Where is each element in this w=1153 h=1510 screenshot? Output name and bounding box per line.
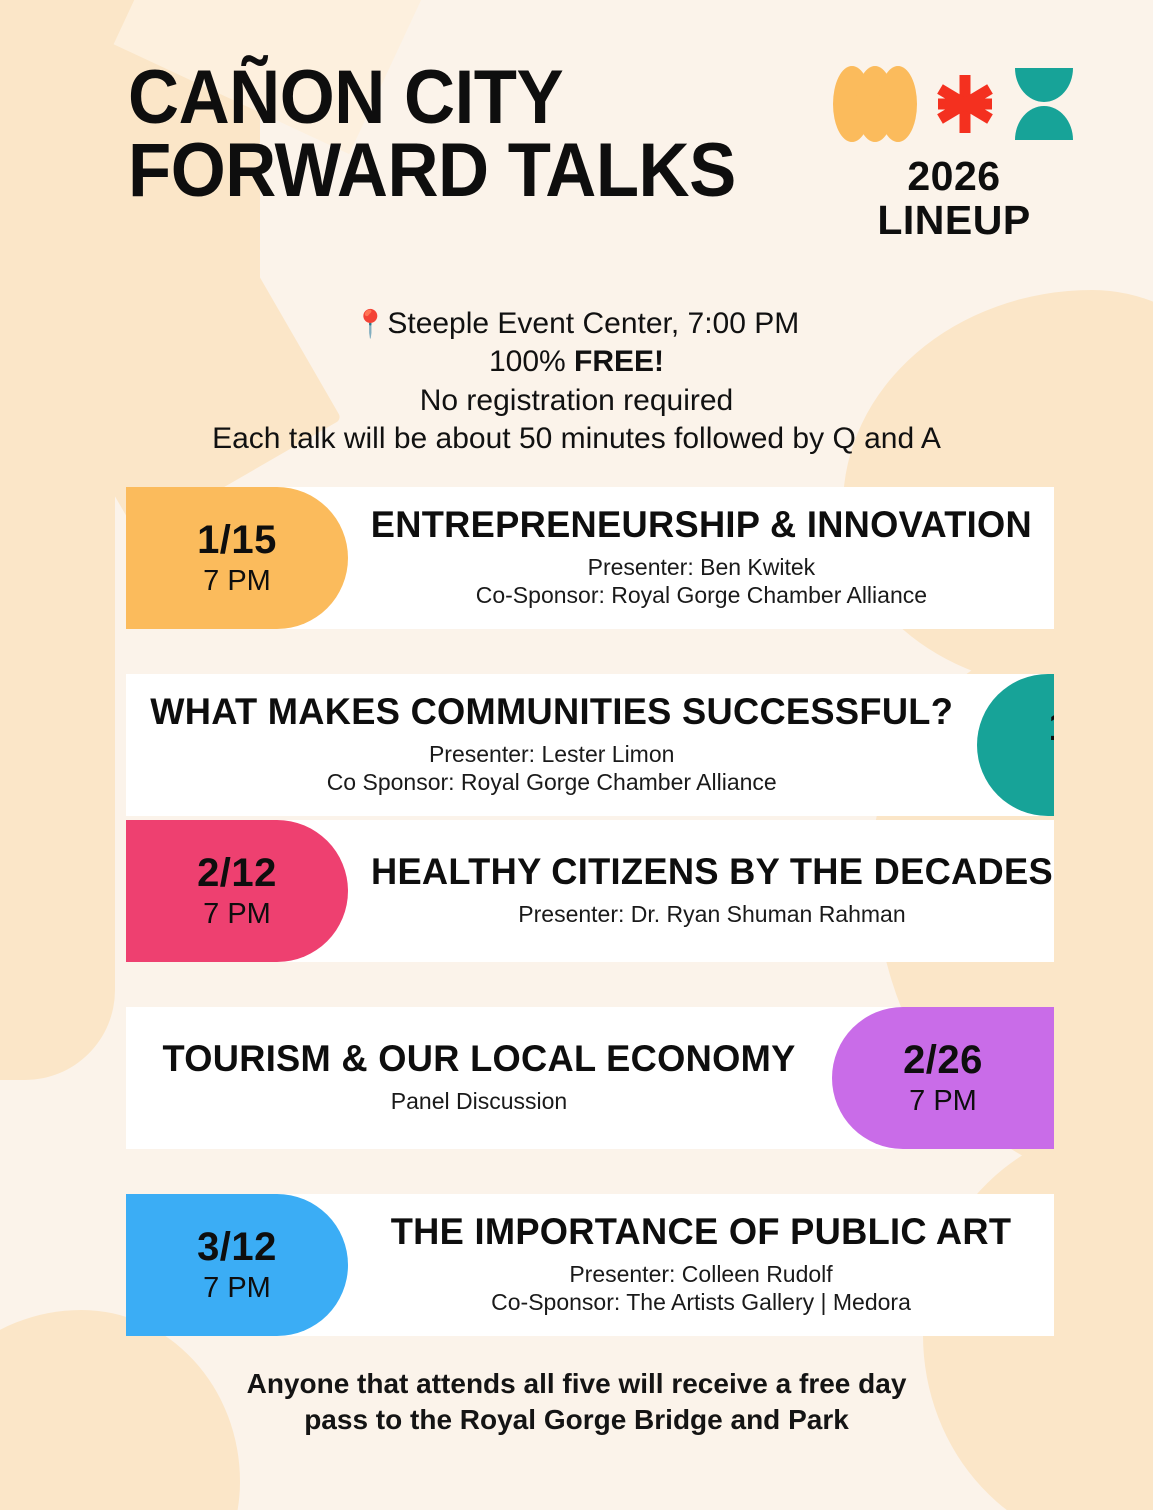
event-date: 2/26: [903, 1038, 983, 1082]
event-presenter: Panel Discussion: [142, 1087, 816, 1115]
registration-line: No registration required: [0, 382, 1153, 420]
title-line-2: FORWARD TALKS: [128, 135, 736, 208]
event-time: 7 PM: [203, 1271, 271, 1306]
event-details: HEALTHY CITIZENS BY THE DECADES Presente…: [348, 820, 1054, 962]
event-list: 1/15 7 PM ENTREPRENEURSHIP & INNOVATION …: [126, 487, 1054, 1381]
event-presenter: Presenter: Ben Kwitek: [364, 553, 1039, 581]
footer-line-2: pass to the Royal Gorge Bridge and Park: [0, 1402, 1153, 1438]
event-subtext: Presenter: Dr. Ryan Shuman Rahman: [364, 900, 1054, 928]
event-title: THE IMPORTANCE OF PUBLIC ART: [371, 1212, 1032, 1251]
event-presenter: Presenter: Lester Limon: [142, 740, 961, 768]
event-row[interactable]: 2/26 7 PM TOURISM & OUR LOCAL ECONOMY Pa…: [126, 1007, 1054, 1149]
event-subtext: Presenter: Colleen Rudolf Co-Sponsor: Th…: [364, 1260, 1038, 1316]
event-title: TOURISM & OUR LOCAL ECONOMY: [149, 1039, 810, 1078]
event-row[interactable]: 1/29 7 PM WHAT MAKES COMMUNITIES SUCCESS…: [126, 674, 1054, 816]
event-date-badge: 1/15 7 PM: [126, 487, 348, 629]
event-details: WHAT MAKES COMMUNITIES SUCCESSFUL? Prese…: [126, 674, 977, 816]
logo-year: 2026: [877, 154, 1030, 198]
event-details: THE IMPORTANCE OF PUBLIC ART Presenter: …: [348, 1194, 1054, 1336]
event-subtext: Panel Discussion: [142, 1087, 816, 1115]
event-presenter: Presenter: Colleen Rudolf: [364, 1260, 1038, 1288]
logo-marks: [833, 66, 1075, 142]
price-line: 100% FREE!: [0, 343, 1153, 381]
event-date-badge: 2/26 7 PM: [832, 1007, 1054, 1149]
venue-text: Steeple Event Center, 7:00 PM: [387, 307, 799, 340]
event-sponsor: Co Sponsor: Royal Gorge Chamber Alliance: [142, 768, 961, 796]
event-sponsor: Co-Sponsor: The Artists Gallery | Medora: [364, 1288, 1038, 1316]
price-emphasis: FREE!: [574, 345, 664, 378]
event-date: 1/29: [1048, 705, 1054, 749]
event-row[interactable]: 1/15 7 PM ENTREPRENEURSHIP & INNOVATION …: [126, 487, 1054, 629]
three-ovals-icon: [833, 66, 917, 142]
event-title: ENTREPRENEURSHIP & INNOVATION: [371, 505, 1032, 544]
event-date-badge: 2/12 7 PM: [126, 820, 348, 962]
page-title: CAÑON CITY FORWARD TALKS: [128, 62, 736, 208]
logo-word: LINEUP: [877, 198, 1030, 242]
venue-line: 📍Steeple Event Center, 7:00 PM: [0, 305, 1153, 343]
event-info-block: 📍Steeple Event Center, 7:00 PM 100% FREE…: [0, 305, 1153, 459]
event-date: 2/12: [197, 851, 277, 895]
event-time: 7 PM: [909, 1084, 977, 1119]
event-row[interactable]: 2/12 7 PM HEALTHY CITIZENS BY THE DECADE…: [126, 820, 1054, 962]
event-date-badge: 1/29 7 PM: [977, 674, 1054, 816]
event-subtext: Presenter: Ben Kwitek Co-Sponsor: Royal …: [364, 553, 1039, 609]
event-row[interactable]: 3/12 7 PM THE IMPORTANCE OF PUBLIC ART P…: [126, 1194, 1054, 1336]
logo: 2026 LINEUP: [833, 66, 1075, 243]
event-title: WHAT MAKES COMMUNITIES SUCCESSFUL?: [150, 692, 953, 731]
event-date: 3/12: [197, 1225, 277, 1269]
format-line: Each talk will be about 50 minutes follo…: [0, 420, 1153, 458]
title-line-1: CAÑON CITY: [128, 62, 736, 135]
poster-canvas: CAÑON CITY FORWARD TALKS: [0, 0, 1153, 1510]
event-presenter: Presenter: Dr. Ryan Shuman Rahman: [364, 900, 1054, 928]
event-details: TOURISM & OUR LOCAL ECONOMY Panel Discus…: [126, 1007, 832, 1149]
event-date-badge: 3/12 7 PM: [126, 1194, 348, 1336]
price-prefix: 100%: [489, 345, 574, 378]
event-date: 1/15: [197, 518, 277, 562]
event-time: 7 PM: [203, 564, 271, 599]
logo-text: 2026 LINEUP: [877, 154, 1030, 243]
event-sponsor: Co-Sponsor: Royal Gorge Chamber Alliance: [364, 581, 1039, 609]
location-pin-icon: 📍: [354, 309, 388, 339]
event-title: HEALTHY CITIZENS BY THE DECADES: [371, 852, 1053, 891]
hourglass-icon: [1013, 66, 1075, 142]
event-subtext: Presenter: Lester Limon Co Sponsor: Roya…: [142, 740, 961, 796]
footer-line-1: Anyone that attends all five will receiv…: [0, 1366, 1153, 1402]
asterisk-star-icon: [934, 71, 996, 137]
footer-note: Anyone that attends all five will receiv…: [0, 1366, 1153, 1439]
event-time: 7 PM: [203, 897, 271, 932]
event-details: ENTREPRENEURSHIP & INNOVATION Presenter:…: [348, 487, 1054, 629]
poster-header: CAÑON CITY FORWARD TALKS: [0, 0, 1153, 243]
